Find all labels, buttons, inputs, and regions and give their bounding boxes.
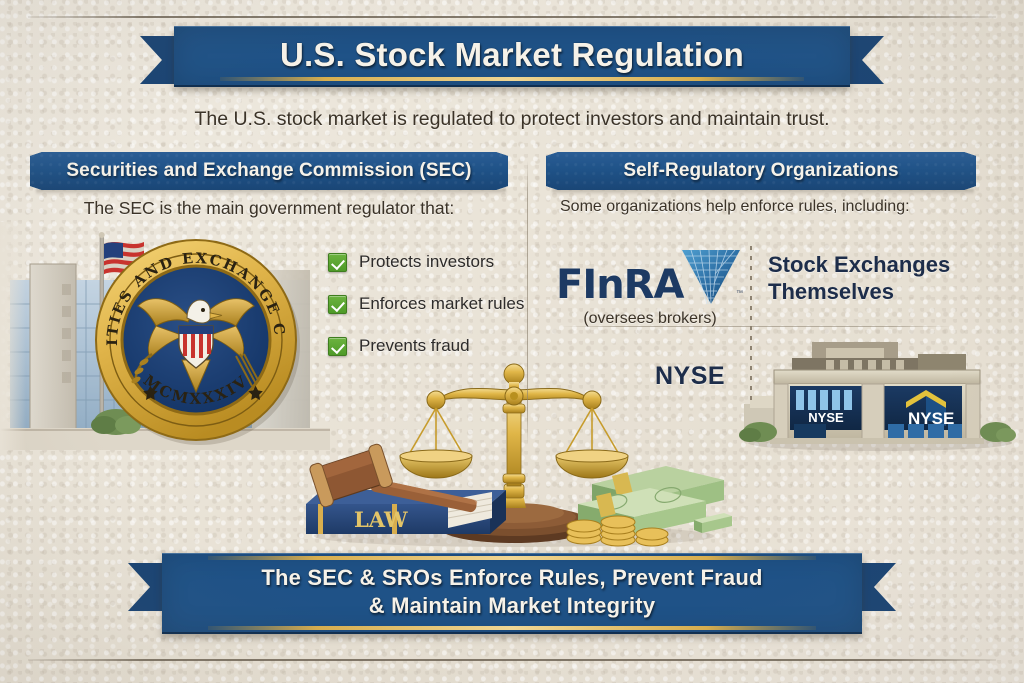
- sec-headquarters-illustration: U.S. SECURITIES AND EXCHANGE COMMISSION …: [0, 222, 330, 450]
- nyse-label: NYSE: [655, 362, 725, 391]
- finra-caption: (oversees brokers): [552, 310, 748, 328]
- nyse-building-illustration: NYSE NYSE: [730, 340, 1024, 452]
- title-banner-body: U.S. Stock Market Regulation: [174, 26, 850, 87]
- footer-banner: The SEC & SROs Enforce Rules, Prevent Fr…: [128, 553, 896, 637]
- nyse-sign-left: NYSE: [808, 410, 844, 425]
- sec-lede-text: The SEC is the main government regulator…: [30, 198, 508, 219]
- section-header-sec: Securities and Exchange Commission (SEC): [30, 152, 508, 190]
- checkmark-icon: [328, 295, 347, 314]
- title-banner: U.S. Stock Market Regulation: [140, 26, 884, 98]
- law-book-label: LAW: [354, 507, 408, 532]
- right-dashed-divider: [750, 246, 752, 401]
- checklist-item: Protects investors: [328, 252, 524, 272]
- infographic-page: U.S. Stock Market Regulation The U.S. st…: [0, 0, 1024, 683]
- top-divider-rule: [28, 16, 996, 18]
- page-title: U.S. Stock Market Regulation: [194, 36, 830, 74]
- finra-logo: FInRA ™: [552, 244, 748, 308]
- finra-wordmark: FInRA: [556, 262, 683, 308]
- checklist-item: Enforces market rules: [328, 294, 524, 314]
- finra-trademark-icon: ™: [736, 290, 743, 297]
- page-subtitle: The U.S. stock market is regulated to pr…: [0, 108, 1024, 131]
- checklist-item-label: Enforces market rules: [359, 294, 524, 314]
- column-divider: [527, 160, 528, 445]
- bottom-divider-rule: [28, 659, 996, 661]
- footer-banner-text: The SEC & SROs Enforce Rules, Prevent Fr…: [184, 564, 840, 620]
- banner-gold-trim: [220, 77, 804, 81]
- checkmark-icon: [328, 337, 347, 356]
- section-header-sro: Self-Regulatory Organizations: [546, 152, 976, 190]
- banner-gold-trim-bottom: [208, 626, 816, 630]
- finra-triangle-mark: [680, 246, 742, 308]
- checklist-item: Prevents fraud: [328, 336, 524, 356]
- banner-gold-trim-top: [208, 556, 816, 560]
- left-edge-fade: [0, 222, 26, 450]
- section-header-sec-label: Securities and Exchange Commission (SEC): [66, 160, 471, 182]
- finra-block: FInRA ™ (oversees broke: [552, 244, 748, 328]
- checklist-item-label: Protects investors: [359, 252, 494, 272]
- sro-lede-text: Some organizations help enforce rules, i…: [546, 198, 976, 216]
- sec-duties-checklist: Protects investors Enforces market rules…: [328, 252, 524, 356]
- checkmark-icon: [328, 253, 347, 272]
- stock-exchanges-label: Stock Exchanges Themselves: [768, 252, 998, 306]
- footer-banner-body: The SEC & SROs Enforce Rules, Prevent Fr…: [162, 553, 862, 634]
- section-header-sro-label: Self-Regulatory Organizations: [623, 160, 898, 182]
- checklist-item-label: Prevents fraud: [359, 336, 470, 356]
